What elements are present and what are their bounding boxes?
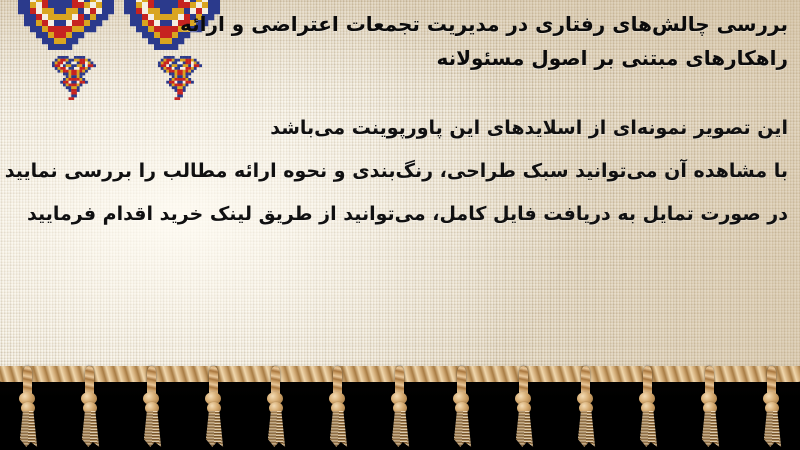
presentation-slide: بررسی چالش‌های رفتاری در مدیریت تجمعات ا… xyxy=(0,0,800,450)
fringe-tassel xyxy=(12,366,42,450)
tassel-skirt xyxy=(761,411,782,447)
fringe-tassel xyxy=(694,366,724,450)
slide-body-line-3: در صورت تمایل به دریافت فایل کامل، می‌تو… xyxy=(27,203,788,225)
tassel-skirt xyxy=(389,411,410,447)
fringe-tassel xyxy=(570,366,600,450)
tassel-skirt xyxy=(513,411,534,447)
tassel-skirt xyxy=(141,411,162,447)
tassel-skirt xyxy=(203,411,224,447)
slide-text-layer: بررسی چالش‌های رفتاری در مدیریت تجمعات ا… xyxy=(0,0,800,378)
fringe-tassel xyxy=(632,366,662,450)
fringe-tassel xyxy=(756,366,786,450)
fringe-tassel xyxy=(508,366,538,450)
fringe-tassel xyxy=(322,366,352,450)
fringe-tassel xyxy=(136,366,166,450)
fringe-tassel xyxy=(74,366,104,450)
slide-body-line-2: با مشاهده آن می‌توانید سبک طراحی، رنگ‌بن… xyxy=(5,160,788,182)
tassel-skirt xyxy=(451,411,472,447)
slide-body-line-1: این تصویر نمونه‌ای از اسلایدهای این پاور… xyxy=(270,117,788,139)
slide-title-line-2: راهکارهای مبتنی بر اصول مسئولانه xyxy=(436,46,788,70)
tassel-skirt xyxy=(265,411,286,447)
fringe-tassel xyxy=(384,366,414,450)
fringe-tassel xyxy=(446,366,476,450)
tassel-skirt xyxy=(575,411,596,447)
slide-title-line-1: بررسی چالش‌های رفتاری در مدیریت تجمعات ا… xyxy=(180,12,788,36)
fringe-tassel xyxy=(260,366,290,450)
tassel-skirt xyxy=(17,411,38,447)
tassel-skirt xyxy=(327,411,348,447)
fringe-tassel xyxy=(198,366,228,450)
tassel-skirt xyxy=(637,411,658,447)
carpet-fringe xyxy=(0,366,800,450)
tassel-skirt xyxy=(699,411,720,447)
tassel-skirt xyxy=(79,411,100,447)
